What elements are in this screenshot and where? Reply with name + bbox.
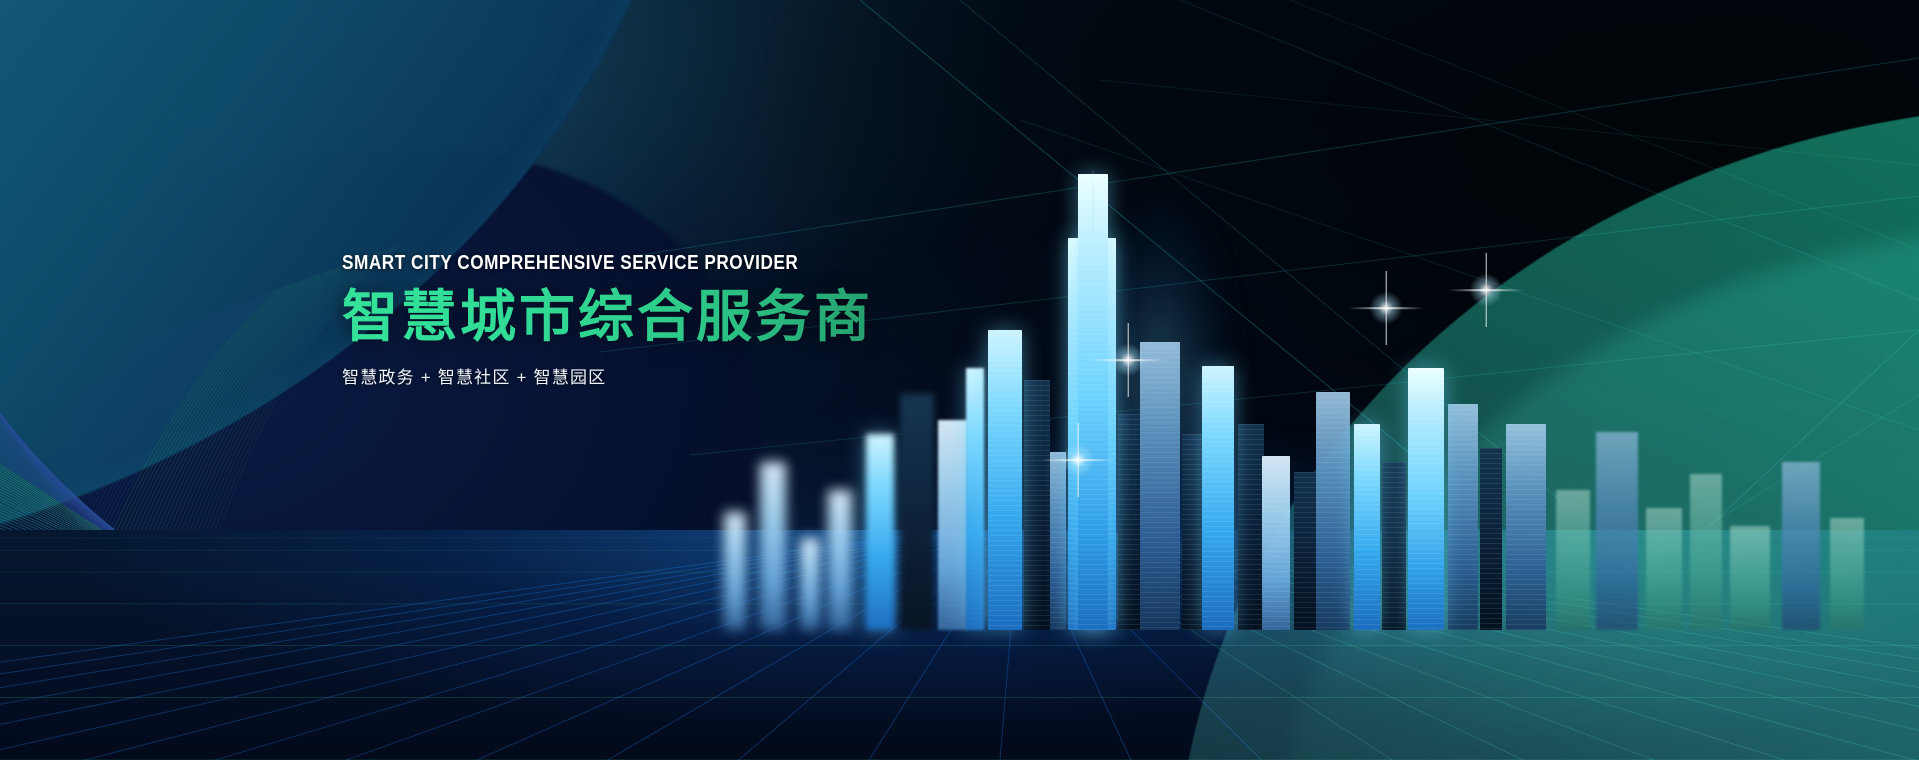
spire-antenna xyxy=(1092,166,1094,244)
tower-dark-d xyxy=(1182,434,1202,630)
bar-b xyxy=(800,538,820,630)
hero-headline: 智慧城市综合服务商 xyxy=(342,287,873,347)
tower-dark-g xyxy=(1382,462,1406,630)
block-green-a xyxy=(1556,490,1590,630)
tower-slim-a xyxy=(966,368,984,630)
block-green-e xyxy=(1830,518,1864,630)
bar-d xyxy=(866,434,894,630)
smart-city-hero-banner: SMART CITY COMPREHENSIVE SERVICE PROVIDE… xyxy=(0,0,1919,760)
block-green-d xyxy=(1730,526,1770,630)
block-blue-right xyxy=(1596,432,1638,630)
bar-far-left xyxy=(724,512,746,630)
tower-dark-f xyxy=(1294,472,1316,630)
bar-a xyxy=(760,462,786,630)
spark-right-a xyxy=(1363,285,1409,331)
tower-round-a xyxy=(1506,424,1546,630)
block-green-c xyxy=(1690,474,1722,630)
block-glass-far xyxy=(1782,462,1820,630)
tower-tall-right xyxy=(1408,368,1444,630)
block-green-b xyxy=(1646,508,1682,630)
tower-dark-e xyxy=(1238,424,1264,630)
tower-dark-c xyxy=(1118,414,1142,630)
tower-cyan-b xyxy=(1202,366,1234,630)
tower-pale-a xyxy=(938,420,968,630)
tower-cyan-c xyxy=(1354,424,1380,630)
tower-dark-b xyxy=(1024,380,1050,630)
hero-eyebrow-english: SMART CITY COMPREHENSIVE SERVICE PROVIDE… xyxy=(342,252,799,275)
tower-grid-a xyxy=(988,330,1022,630)
tower-pale-b xyxy=(1262,456,1290,630)
tower-dark-h xyxy=(1480,448,1502,630)
tower-grid-c xyxy=(1316,392,1350,630)
tower-grid-b xyxy=(1140,342,1180,630)
hero-subline: 智慧政务 + 智慧社区 + 智慧园区 xyxy=(342,363,873,388)
hero-copy-block: SMART CITY COMPREHENSIVE SERVICE PROVIDE… xyxy=(342,252,873,388)
tower-dark-a xyxy=(900,394,934,630)
bar-c xyxy=(828,490,852,630)
tower-grid-d xyxy=(1448,404,1478,630)
